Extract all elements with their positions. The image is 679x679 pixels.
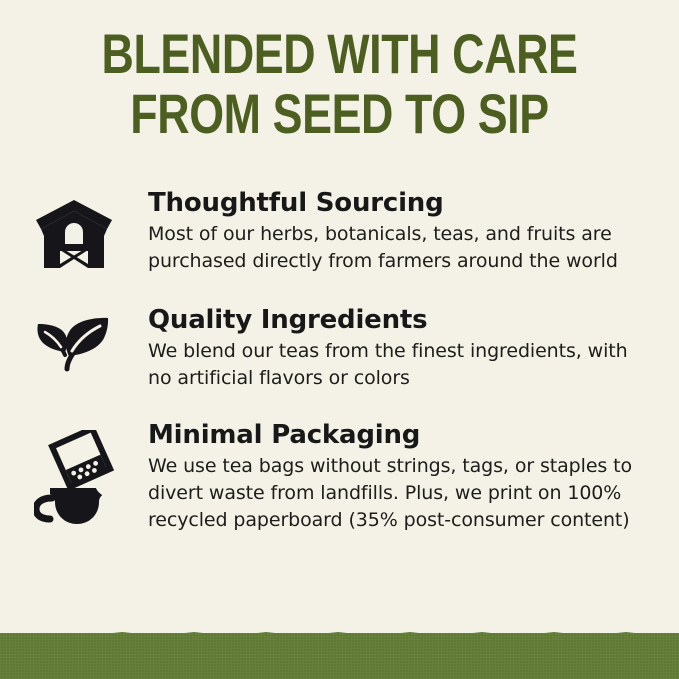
- feature-title: Quality Ingredients: [148, 305, 639, 335]
- feature-list: Thoughtful Sourcing Most of our herbs, b…: [0, 188, 679, 534]
- feature-item-minimal-packaging: Minimal Packaging We use tea bags withou…: [0, 420, 679, 534]
- feature-body: Minimal Packaging We use tea bags withou…: [120, 420, 679, 534]
- bottom-green-band: [0, 633, 679, 679]
- band-torn-edge: [0, 630, 679, 637]
- leaves-icon: [34, 305, 120, 375]
- feature-item-thoughtful-sourcing: Thoughtful Sourcing Most of our herbs, b…: [0, 188, 679, 275]
- page-title: BLENDED WITH CARE FROM SEED TO SIP: [68, 26, 611, 142]
- barn-icon: [34, 188, 120, 270]
- page-title-line-1: BLENDED WITH CARE: [68, 26, 611, 82]
- page-title-line-2: FROM SEED TO SIP: [68, 86, 611, 142]
- infographic-page: BLENDED WITH CARE FROM SEED TO SIP: [0, 0, 679, 679]
- teabag-mug-icon: [34, 420, 120, 526]
- feature-body: Quality Ingredients We blend our teas fr…: [120, 305, 679, 392]
- feature-body: Thoughtful Sourcing Most of our herbs, b…: [120, 188, 679, 275]
- feature-text: Most of our herbs, botanicals, teas, and…: [148, 221, 639, 275]
- feature-title: Minimal Packaging: [148, 420, 639, 450]
- feature-text: We blend our teas from the finest ingred…: [148, 338, 639, 392]
- feature-item-quality-ingredients: Quality Ingredients We blend our teas fr…: [0, 305, 679, 392]
- band-texture: [0, 633, 679, 679]
- feature-text: We use tea bags without strings, tags, o…: [148, 453, 639, 534]
- feature-title: Thoughtful Sourcing: [148, 188, 639, 218]
